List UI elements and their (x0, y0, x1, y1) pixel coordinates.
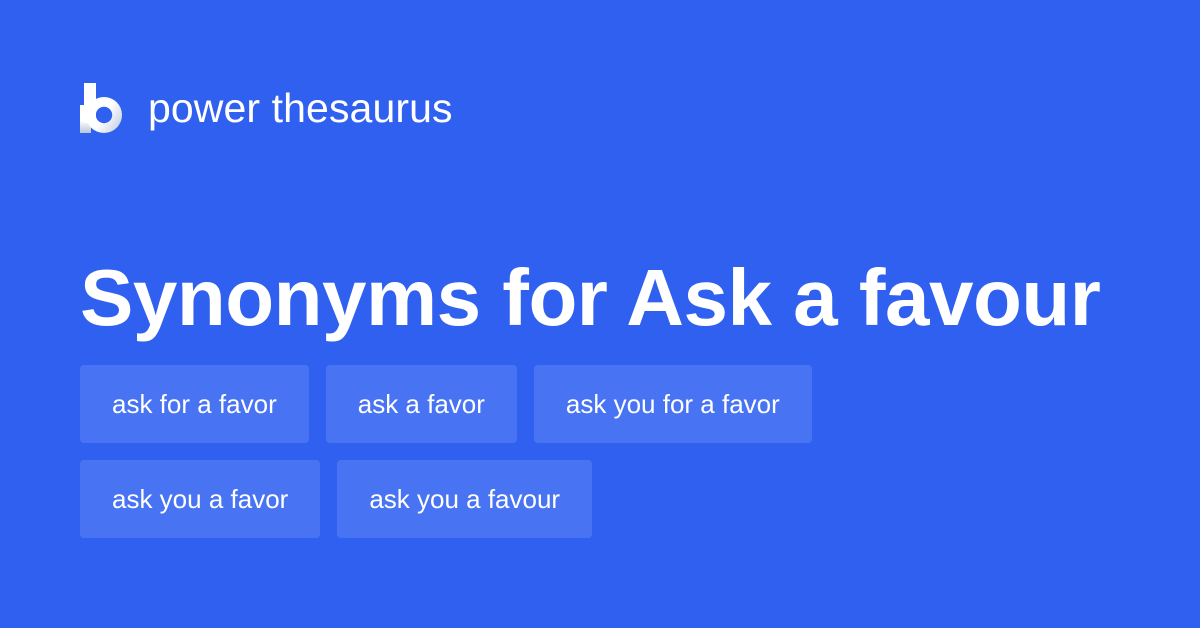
synonym-tag[interactable]: ask a favor (326, 365, 517, 443)
synonym-tag-list: ask for a favor ask a favor ask you for … (80, 365, 1120, 555)
synonym-tag[interactable]: ask you a favour (337, 460, 592, 538)
brand-logo[interactable]: power thesaurus (80, 80, 453, 136)
synonym-row: ask for a favor ask a favor ask you for … (80, 365, 1120, 443)
brand-name: power thesaurus (148, 88, 453, 129)
synonym-tag[interactable]: ask you a favor (80, 460, 320, 538)
synonym-tag[interactable]: ask for a favor (80, 365, 309, 443)
synonym-row: ask you a favor ask you a favour (80, 460, 1120, 538)
power-thesaurus-b-logo-icon (80, 83, 124, 133)
synonym-tag[interactable]: ask you for a favor (534, 365, 812, 443)
share-card: power thesaurus Synonyms for Ask a favou… (0, 0, 1200, 628)
page-title: Synonyms for Ask a favour (80, 250, 1160, 346)
